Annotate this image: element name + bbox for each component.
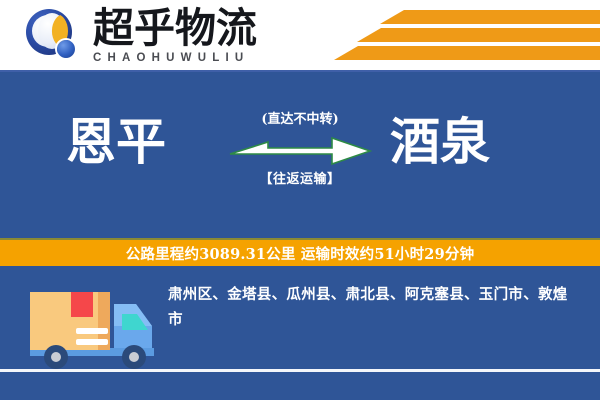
roundtrip-service-note: 【往返运输】	[228, 172, 372, 188]
speed-stripe-3	[334, 46, 600, 60]
double-headed-arrow-icon	[228, 134, 372, 168]
ground-line	[0, 369, 600, 372]
brand-name-cn: 超乎物流	[93, 6, 278, 50]
origin-city-label: 恩平	[66, 114, 166, 170]
route-panel: 恩平 (直达不中转) 【往返运输】 酒泉	[0, 72, 600, 238]
brand-header: 超乎物流 CHAOHUWULIU	[0, 0, 600, 72]
coverage-areas-text: 肃州区、金塔县、瓜州县、肃北县、阿克塞县、玉门市、敦煌市	[168, 282, 572, 332]
distance-duration-bar: 公路里程约3089.31公里 运输时效约51小时29分钟	[0, 238, 600, 266]
delivery-truck-icon	[22, 274, 162, 372]
circle-crescent-logo-icon	[26, 9, 80, 63]
brand-block: 超乎物流 CHAOHUWULIU	[93, 6, 278, 64]
route-middle-group: (直达不中转) 【往返运输】	[228, 112, 372, 188]
distance-duration-text: 公路里程约3089.31公里 运输时效约51小时29分钟	[126, 243, 475, 264]
brand-name-pinyin: CHAOHUWULIU	[93, 52, 278, 64]
speed-stripe-1	[380, 10, 600, 24]
direct-service-note: (直达不中转)	[228, 112, 372, 128]
speed-stripe-2	[357, 28, 600, 42]
logo-accent-dot	[57, 40, 75, 58]
destination-city-label: 酒泉	[390, 114, 490, 170]
coverage-panel: 肃州区、金塔县、瓜州县、肃北县、阿克塞县、玉门市、敦煌市	[0, 266, 600, 400]
logistics-route-banner: 超乎物流 CHAOHUWULIU 恩平 (直达不中转) 【往返运输】 酒泉 公路…	[0, 0, 600, 400]
